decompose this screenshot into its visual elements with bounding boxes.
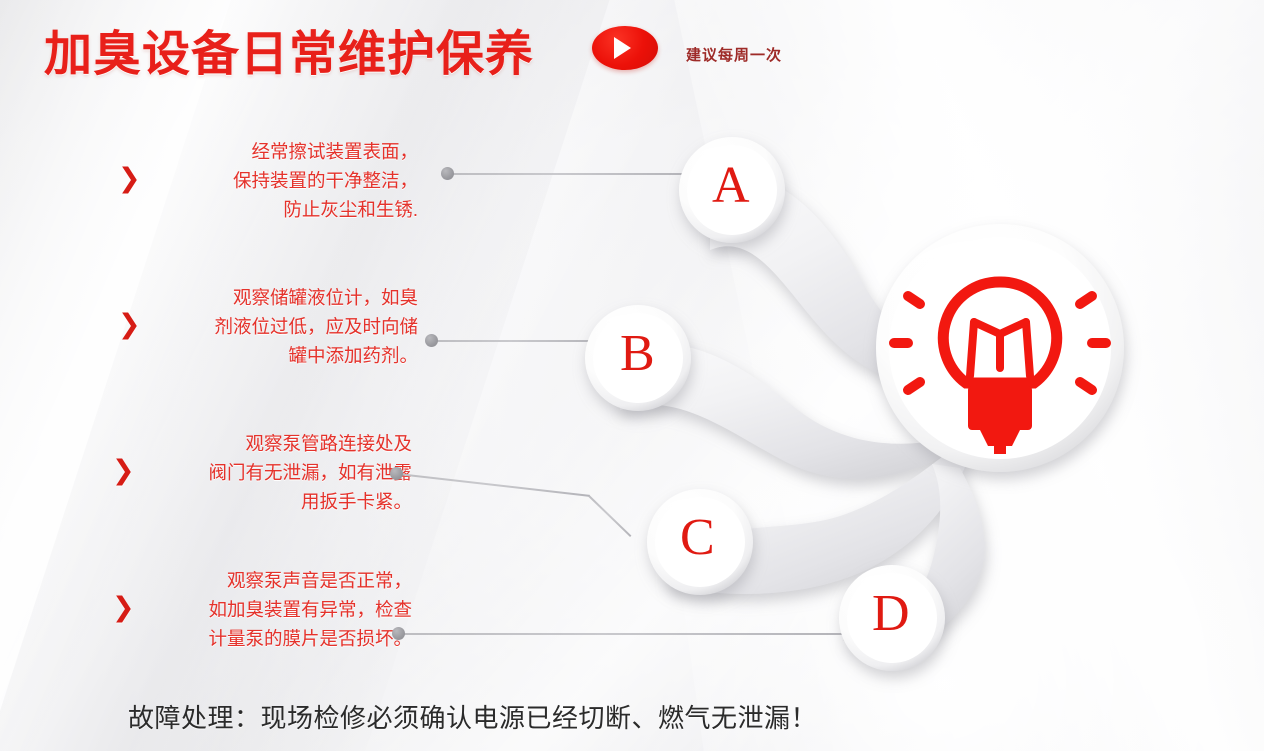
chevron-right-icon [592, 26, 658, 70]
connector-dot-a [441, 167, 454, 180]
chevron-right-glyph [614, 37, 631, 59]
description-text-a: 经常擦试装置表面， 保持装置的干净整洁， 防止灰尘和生锈. [134, 137, 418, 224]
node-c[interactable] [647, 489, 753, 595]
connector-dot-d [392, 627, 405, 640]
poster-canvas: 加臭设备日常维护保养 建议每周一次 ❯ 经常擦试装置表面， 保持装置的干净整洁，… [0, 0, 1264, 751]
connector-dot-c [390, 467, 403, 480]
frequency-note: 建议每周一次 [686, 44, 782, 65]
description-line: 保持装置的干净整洁， [134, 166, 418, 195]
bullet-chevron-icon: ❯ [112, 594, 130, 620]
node-a[interactable] [679, 137, 785, 243]
bullet-chevron-icon: ❯ [112, 457, 130, 483]
description-block-a: ❯ 经常擦试装置表面， 保持装置的干净整洁， 防止灰尘和生锈. [118, 137, 418, 224]
header: 加臭设备日常维护保养 建议每周一次 [0, 0, 1264, 104]
description-line: 观察泵管路连接处及 [128, 429, 412, 458]
metaball-diagram-svg [560, 100, 1200, 700]
description-block-d: ❯ 观察泵声音是否正常， 如加臭装置有异常，检查 计量泵的膜片是否损坏。 [112, 566, 412, 653]
description-line: 防止灰尘和生锈. [134, 195, 418, 224]
description-line: 如加臭装置有异常，检查 [128, 595, 412, 624]
description-line: 观察储罐液位计，如臭 [134, 283, 418, 312]
description-line: 阀门有无泄漏，如有泄露 [128, 458, 412, 487]
description-block-c: ❯ 观察泵管路连接处及 阀门有无泄漏，如有泄露 用扳手卡紧。 [112, 429, 412, 516]
description-line: 观察泵声音是否正常， [128, 566, 412, 595]
page-title: 加臭设备日常维护保养 [44, 14, 534, 84]
node-d[interactable] [839, 565, 945, 671]
footer-warning-note: 故障处理：现场检修必须确认电源已经切断、燃气无泄漏！ [128, 698, 817, 735]
bullet-chevron-icon: ❯ [118, 165, 136, 191]
description-line: 罐中添加药剂。 [134, 341, 418, 370]
bullet-chevron-icon: ❯ [118, 311, 136, 337]
description-text-d: 观察泵声音是否正常， 如加臭装置有异常，检查 计量泵的膜片是否损坏。 [128, 566, 412, 653]
description-text-c: 观察泵管路连接处及 阀门有无泄漏，如有泄露 用扳手卡紧。 [128, 429, 412, 516]
node-b[interactable] [585, 305, 691, 411]
description-text-b: 观察储罐液位计，如臭 剂液位过低，应及时向储 罐中添加药剂。 [134, 283, 418, 370]
description-line: 经常擦试装置表面， [134, 137, 418, 166]
description-line: 剂液位过低，应及时向储 [134, 312, 418, 341]
description-line: 计量泵的膜片是否损坏。 [128, 624, 412, 653]
description-line: 用扳手卡紧。 [128, 487, 412, 516]
connector-dot-b [425, 334, 438, 347]
metaball-diagram: A B C D [560, 100, 1200, 700]
description-block-b: ❯ 观察储罐液位计，如臭 剂液位过低，应及时向储 罐中添加药剂。 [118, 283, 418, 370]
